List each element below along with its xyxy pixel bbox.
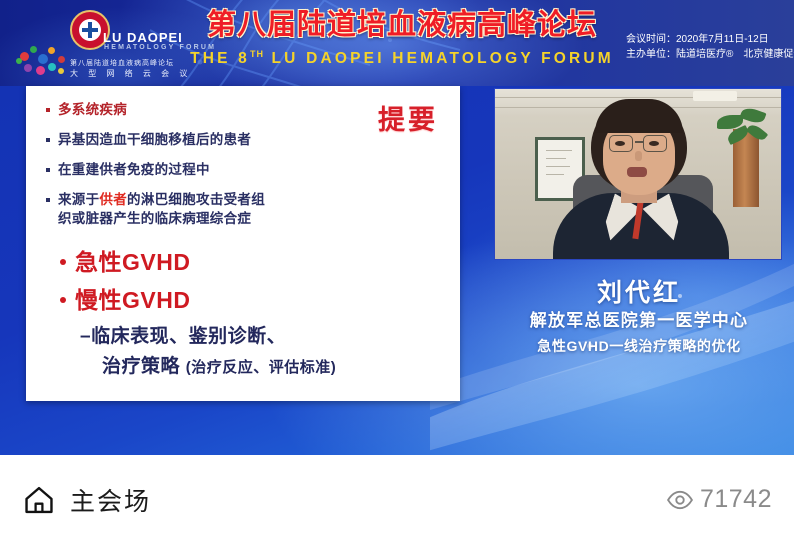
bullet-text: 多系统疾病 — [58, 100, 127, 119]
list-item: 急性GVHD — [60, 246, 450, 278]
conference-title-en: THE 8TH LU DAOPEI HEMATOLOGY FORUM — [172, 45, 632, 68]
bullet-text-composite: 来源于供者的淋巴细胞攻击受者组织或脏器产生的临床病理综合症 — [58, 190, 265, 228]
sub-point-line-2-small: (治疗反应、评估标准) — [186, 359, 337, 376]
meeting-time: 会议时间：2020年7月11日-12日 — [626, 32, 786, 47]
bullet-dot-icon — [46, 138, 50, 142]
logo-brand-cn-1: 第八届陆道培血液病高峰论坛 — [70, 58, 174, 68]
live-stream-page: LU DAOPEI HEMATOLOGY FORUM 第八届陆道培血液病高峰论坛… — [0, 0, 794, 544]
bottom-bar: 主会场 71742 — [0, 455, 794, 544]
slide-heading: 提要 — [378, 98, 438, 137]
bullet-text-highlight: 供者 — [99, 192, 127, 207]
bullet-text-part-a: 来源于 — [58, 192, 99, 207]
eyeglass-bridge-icon — [635, 141, 643, 143]
meeting-info: 会议时间：2020年7月11日-12日 主办单位：陆道培医疗® 北京健康促进会 — [626, 32, 786, 62]
title-en-pre: THE 8 — [190, 50, 250, 67]
forum-logo: LU DAOPEI HEMATOLOGY FORUM 第八届陆道培血液病高峰论坛… — [8, 4, 168, 84]
speaker-mouth — [627, 167, 647, 177]
ceiling-light — [693, 91, 737, 101]
bullet-dot-icon — [46, 108, 50, 112]
room-indicator[interactable]: 主会场 — [22, 482, 151, 518]
list-item: 异基因造血干细胞移植后的患者 — [42, 130, 332, 149]
speaker-nose — [635, 151, 642, 161]
list-item: 慢性GVHD — [60, 284, 450, 316]
bullet-text-line2: 织或脏器产生的临床病理综合症 — [58, 211, 251, 226]
sub-point-line-2: 治疗策略 (治疗反应、评估标准) — [102, 352, 450, 383]
view-count-group: 71742 — [666, 485, 772, 514]
video-stream-area[interactable]: LU DAOPEI HEMATOLOGY FORUM 第八届陆道培血液病高峰论坛… — [0, 0, 794, 455]
room-label: 主会场 — [70, 482, 151, 518]
view-count: 71742 — [700, 485, 772, 514]
main-point-text: 慢性GVHD — [75, 284, 190, 316]
main-point-text: 急性GVHD — [75, 246, 190, 278]
speaker-caption: 刘代红 解放军总医院第一医学中心 急性GVHD一线治疗策略的优化 — [494, 278, 784, 357]
cells-graphic-icon — [14, 42, 74, 82]
bullet-text: 异基因造血干细胞移植后的患者 — [58, 130, 251, 149]
bullet-dot-icon — [60, 259, 66, 265]
banner-title-zone: 第八届陆道培血液病高峰论坛 THE 8TH LU DAOPEI HEMATOLO… — [172, 8, 632, 80]
title-en-post: LU DAOPEI HEMATOLOGY FORUM — [264, 50, 614, 67]
bullet-text-part-b: 的淋巴细胞攻击受者组 — [127, 192, 265, 207]
list-item: 来源于供者的淋巴细胞攻击受者组织或脏器产生的临床病理综合症 — [42, 190, 332, 228]
sub-point-line-1: –临床表现、鉴别诊断、 — [80, 322, 450, 352]
speaker-eye-right — [649, 141, 659, 146]
list-item: 在重建供者免疫的过程中 — [42, 160, 332, 179]
home-icon[interactable] — [22, 483, 56, 517]
logo-brand-en: LU DAOPEI — [103, 30, 183, 45]
speaker-name: 刘代红 — [494, 278, 784, 308]
bullet-dot-icon — [46, 198, 50, 202]
bullet-text: 在重建供者免疫的过程中 — [58, 160, 210, 179]
slide-heading-text: 提要 — [378, 105, 438, 135]
speaker-video-feed[interactable] — [494, 88, 782, 260]
eye-icon — [666, 486, 694, 514]
conference-title-cn: 第八届陆道培血液病高峰论坛 — [172, 8, 632, 42]
speaker-eye-left — [615, 141, 625, 146]
conference-banner: LU DAOPEI HEMATOLOGY FORUM 第八届陆道培血液病高峰论坛… — [0, 0, 794, 86]
bullet-dot-icon — [60, 297, 66, 303]
slide-main-points: 急性GVHD 慢性GVHD –临床表现、鉴别诊断、 治疗策略 (治疗反应、评估标… — [60, 246, 450, 383]
ceiling-line — [495, 97, 781, 98]
presentation-slide[interactable]: 提要 多系统疾病 异基因造血干细胞移植后的患者 在重建供者免疫的过程中 来源 — [26, 86, 460, 401]
title-en-sup: TH — [250, 49, 264, 59]
bullet-dot-icon — [46, 168, 50, 172]
speaker-topic: 急性GVHD一线治疗策略的优化 — [494, 336, 784, 357]
slide-bullet-list: 多系统疾病 异基因造血干细胞移植后的患者 在重建供者免疫的过程中 来源于供者的淋… — [42, 100, 332, 239]
list-item: 多系统疾病 — [42, 100, 332, 119]
speaker-organization: 解放军总医院第一医学中心 — [494, 309, 784, 333]
sub-point-line-2-main: 治疗策略 — [102, 356, 186, 377]
meeting-organizer: 主办单位：陆道培医疗® 北京健康促进会 — [626, 47, 786, 62]
